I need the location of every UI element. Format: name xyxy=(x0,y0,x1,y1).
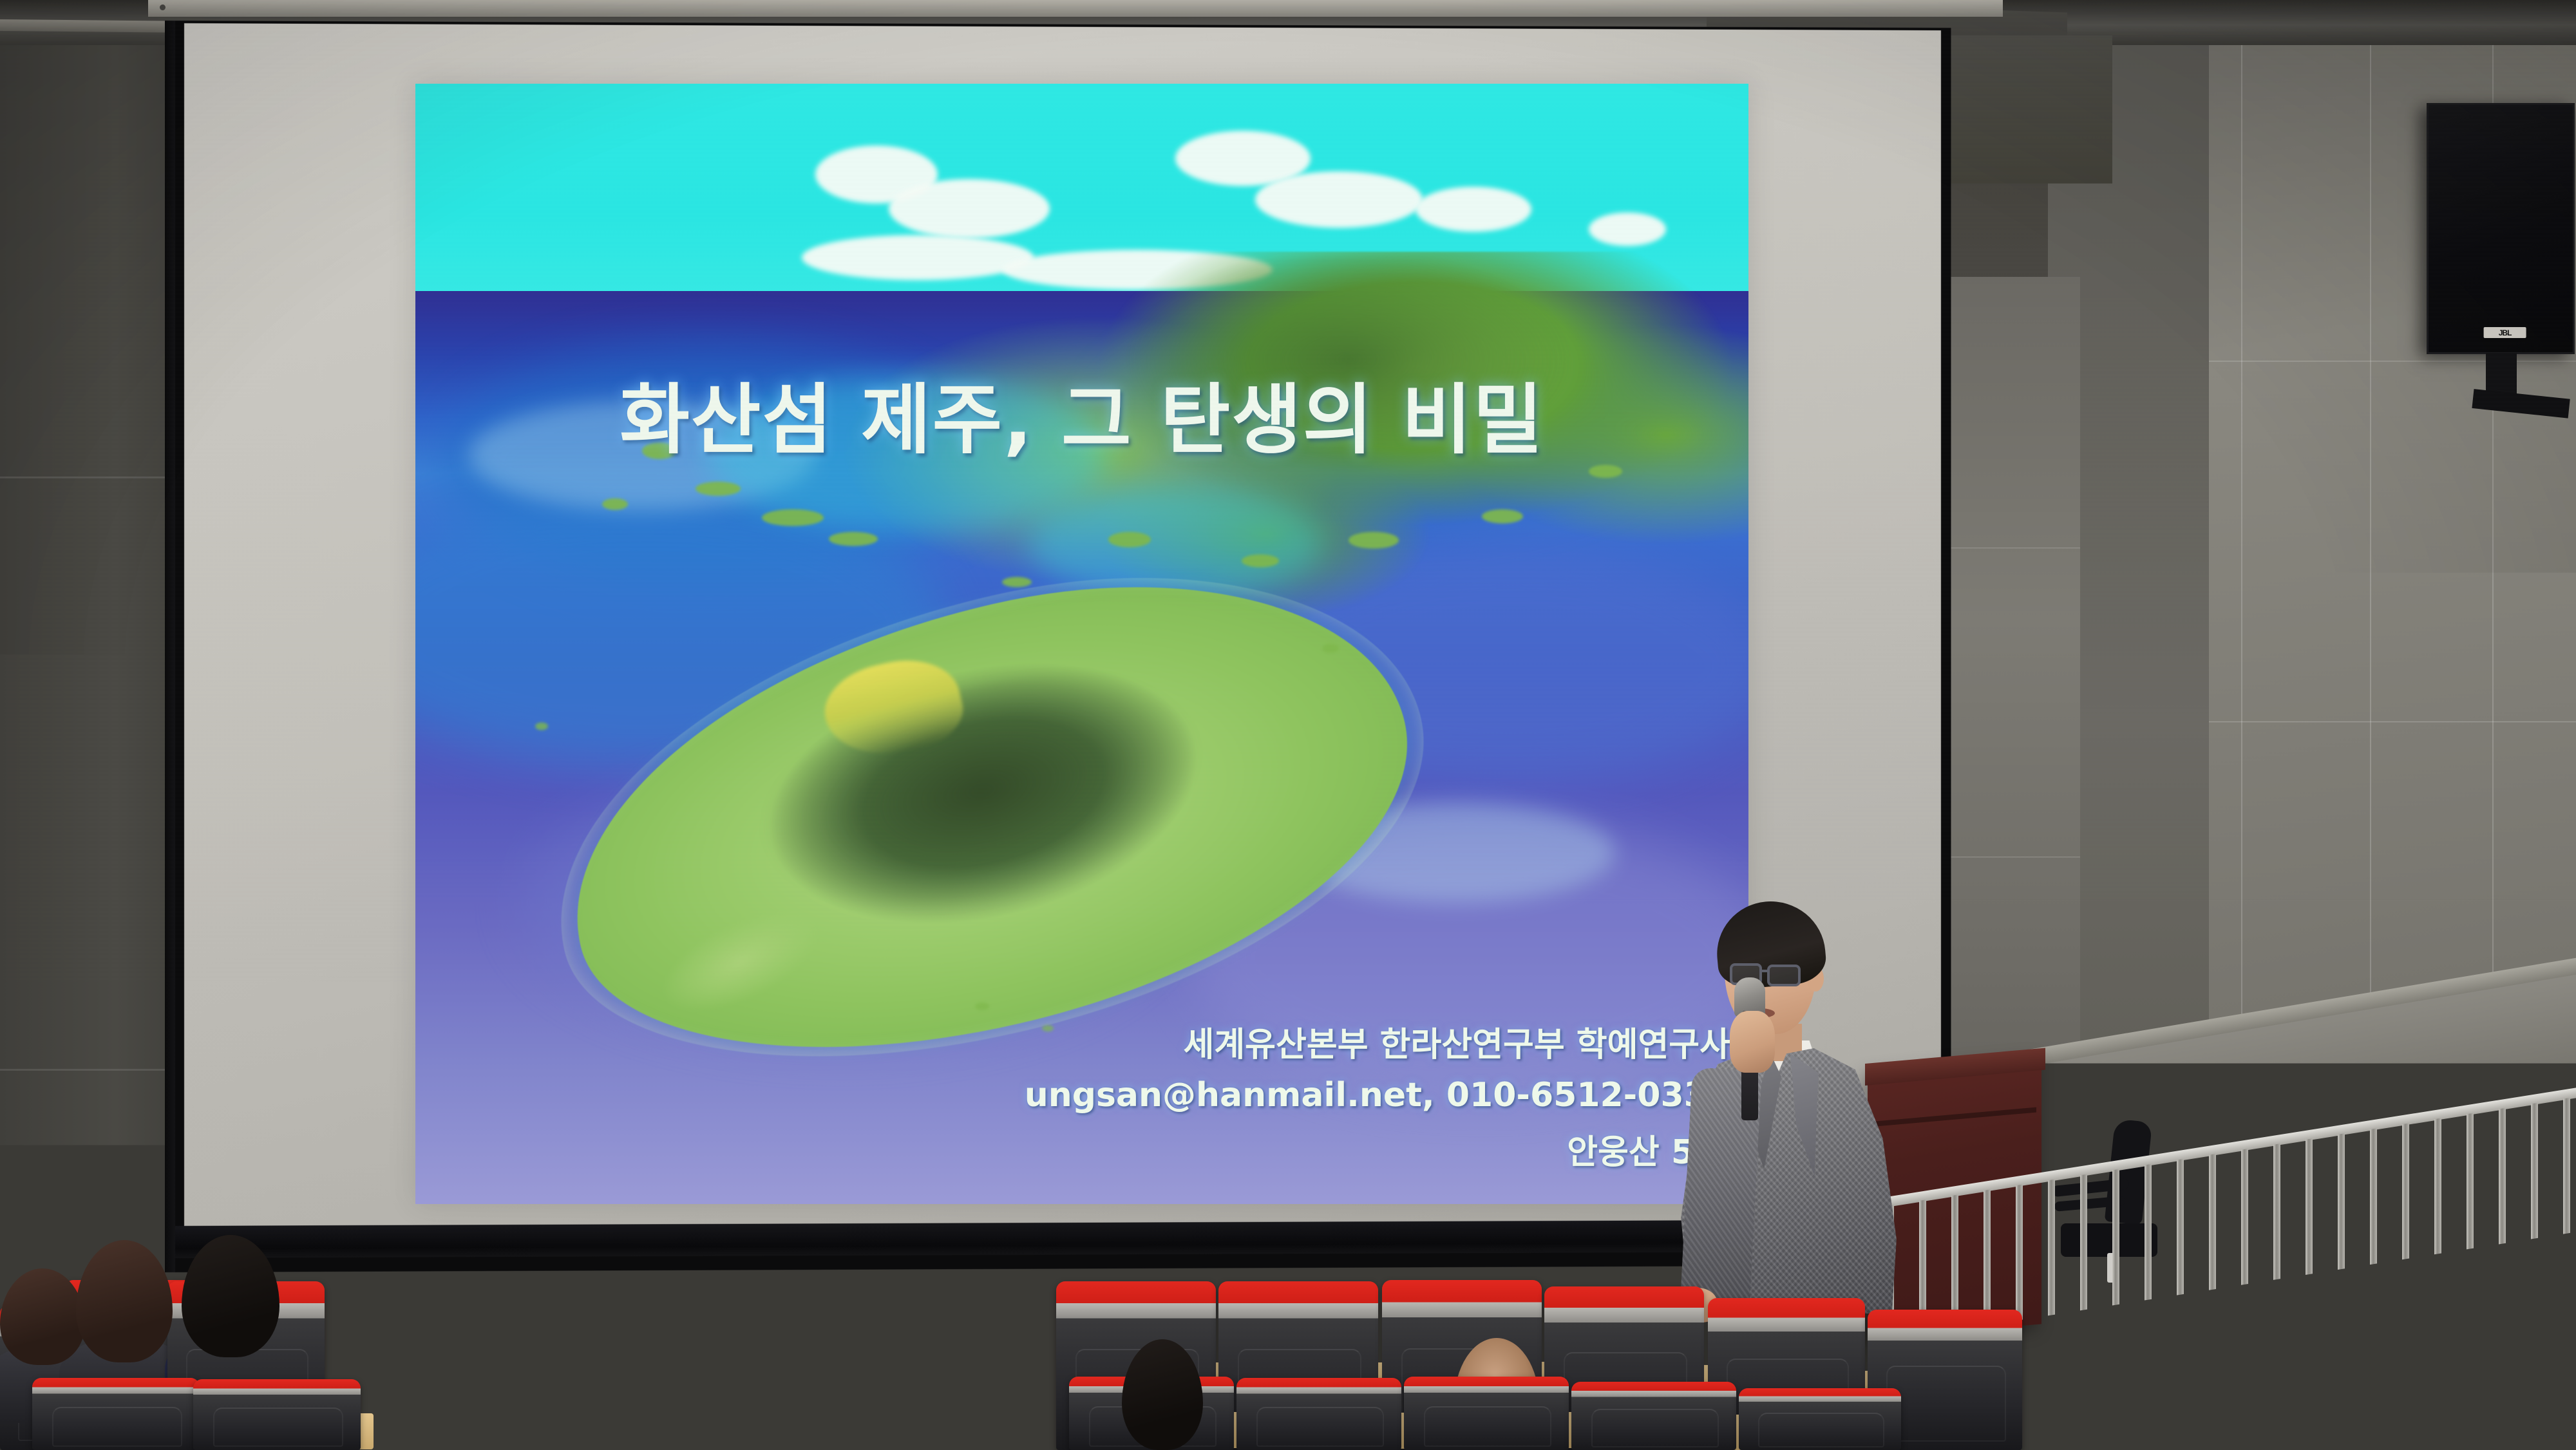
speaker-brand-badge: JBL xyxy=(2484,327,2526,338)
lecture-hall-scene: JBL xyxy=(0,0,2576,1450)
audience-seat xyxy=(1571,1382,1736,1450)
left-wall xyxy=(0,0,193,1450)
wall-speaker: JBL xyxy=(2427,103,2575,354)
audience-seat xyxy=(32,1378,200,1450)
footer-contact: ungsan@hanmail.net, 010-6512-0336 xyxy=(1025,1076,1730,1115)
footer-presenter-name: 안웅산 5.0 xyxy=(1025,1125,1730,1173)
audience-seat xyxy=(1739,1388,1901,1450)
screen-rail-screw xyxy=(160,5,166,10)
audience-seat xyxy=(1404,1377,1569,1450)
slide-footer-credits: 세계유산본부 한라산연구부 학예연구사 ungsan@hanmail.net, … xyxy=(1025,1017,1730,1173)
slide-title: 화산섬 제주, 그 탄생의 비밀 xyxy=(415,358,1748,468)
presenter-hand-holding-mic xyxy=(1730,1011,1775,1073)
eyeglasses-lens-right xyxy=(1767,965,1801,986)
eyeglasses-bridge xyxy=(1761,970,1770,972)
projected-slide: 화산섬 제주, 그 탄생의 비밀 세계유산본부 한라산연구부 학예연구사 ung… xyxy=(415,84,1748,1204)
audience-seating xyxy=(0,1262,2576,1450)
footer-affiliation: 세계유산본부 한라산연구부 학예연구사 xyxy=(1025,1017,1730,1066)
audience-seat xyxy=(193,1379,361,1450)
presenter xyxy=(1649,901,1926,1313)
audience-seat xyxy=(1236,1378,1401,1450)
